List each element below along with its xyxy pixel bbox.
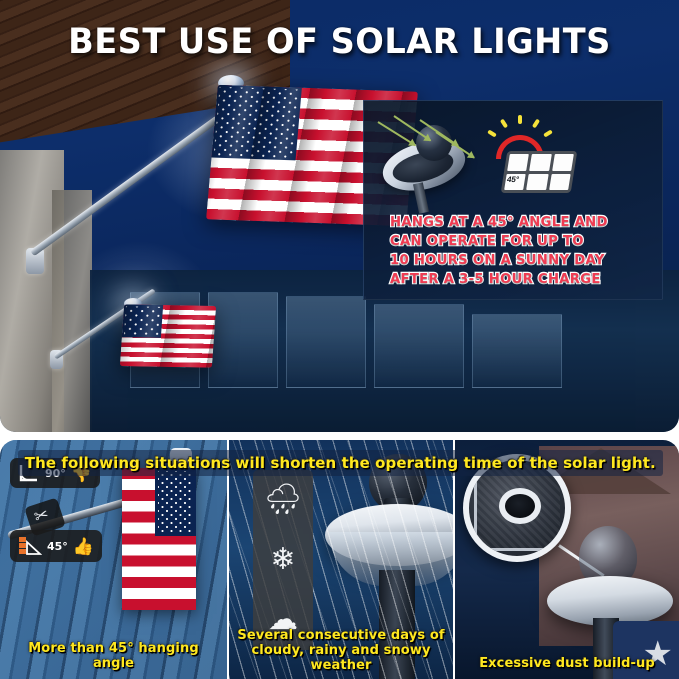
glass-pane [286,296,366,388]
flag-canton [122,304,163,338]
info-panel: 45° HANGS AT A 45° ANGLE AND CAN OPERATE… [363,100,663,300]
glass-pane [374,304,464,388]
info-line-2: CAN OPERATE FOR UP TO [390,232,660,251]
panel-angle-label: 45° [506,175,520,184]
info-line-3: 10 HOURS ON A SUNNY DAY [390,251,660,270]
hero-image: 45° HANGS AT A 45° ANGLE AND CAN OPERATE… [0,0,679,432]
solar-panel-grid-icon [501,151,578,193]
glass-pane [472,314,562,388]
sun-ray-icon [518,115,522,124]
sun-ray-icon [532,119,540,129]
badge-degree-label: 45° [47,540,68,553]
flag-canton [211,85,301,160]
weather-panel-caption: Several consecutive days of cloudy, rain… [229,628,453,673]
angle-panel-caption: More than 45° hanging angle [0,641,227,671]
solar-light-product-illustration [376,109,486,214]
infographic-root: 45° HANGS AT A 45° ANGLE AND CAN OPERATE… [0,0,679,679]
dust-panel-caption: Excessive dust build-up [455,656,679,671]
glass-pane [208,292,278,388]
acute-angle-icon [18,535,42,557]
page-title: BEST USE OF SOLAR LIGHTS [14,22,666,62]
american-flag-secondary [120,304,216,367]
panel-gap-divider [0,432,679,440]
sun-ray-icon [500,119,508,129]
warning-banner: The following situations will shorten th… [18,450,663,476]
weather-caption-line-2: cloudy, rainy and snowy weather [235,643,447,673]
snowflake-icon: ❄ [270,545,295,575]
center-hole [499,488,541,524]
solar-panel-sun-icon: 45° [482,115,578,195]
badge-45-degrees: 45° 👍 [10,530,102,562]
sun-ray-icon [487,129,497,137]
weather-icon-bar: 🌧 ❄ ☁ [253,470,313,650]
info-line-4: AFTER A 3-5 HOUR CHARGE [390,270,660,289]
rain-cloud-icon: 🌧 [264,485,302,515]
flag-canton [155,468,196,536]
info-line-1: HANGS AT A 45° ANGLE AND [390,213,660,232]
info-text-block: HANGS AT A 45° ANGLE AND CAN OPERATE FOR… [390,213,660,289]
thumbs-up-icon: 👍 [73,538,94,555]
sun-ray-icon [543,129,553,137]
american-flag [122,468,196,610]
warning-banner-text: The following situations will shorten th… [25,454,656,472]
weather-caption-line-1: Several consecutive days of [235,628,447,643]
